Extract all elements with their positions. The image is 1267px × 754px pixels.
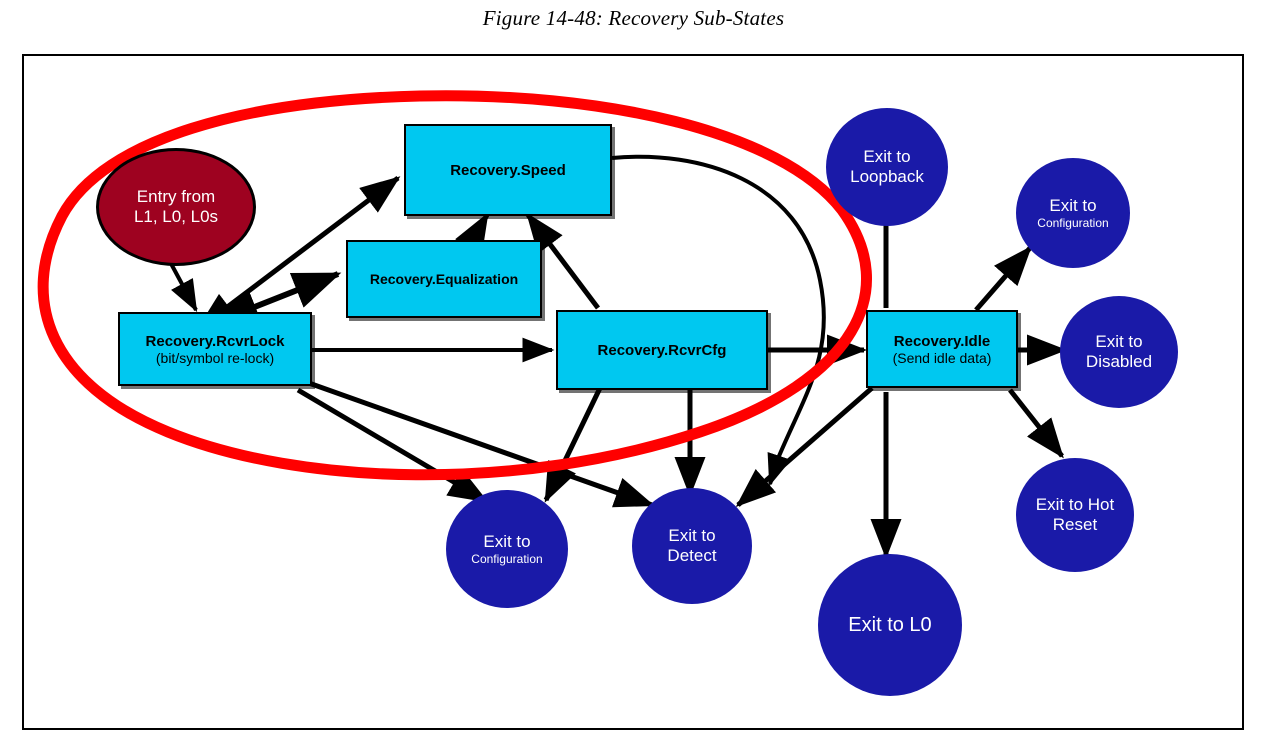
- node-exit-l0[interactable]: Exit to L0: [818, 554, 962, 696]
- node-exit-hot-reset[interactable]: Exit to Hot Reset: [1016, 458, 1134, 572]
- edge-rcvrlock-to-exit-configuration: [298, 390, 486, 501]
- node-exit-hot-reset-line1: Exit to Hot: [1036, 495, 1114, 515]
- node-exit-detect-line2: Detect: [667, 546, 716, 566]
- node-recovery-speed[interactable]: Recovery.Speed: [404, 124, 612, 216]
- node-exit-loopback-line2: Loopback: [850, 167, 924, 187]
- edge-idle-to-exit-configuration-right: [976, 248, 1030, 310]
- edge-equalization-to-speed: [472, 215, 487, 241]
- node-exit-config-bottom-line1: Exit to: [483, 532, 530, 552]
- node-entry-line1: Entry from: [137, 187, 215, 207]
- node-speed-line1: Recovery.Speed: [450, 162, 566, 179]
- node-exit-configuration-right[interactable]: Exit to Configuration: [1016, 158, 1130, 268]
- node-exit-disabled[interactable]: Exit to Disabled: [1060, 296, 1178, 408]
- node-exit-detect-line1: Exit to: [668, 526, 715, 546]
- node-recovery-idle[interactable]: Recovery.Idle (Send idle data): [866, 310, 1018, 388]
- node-recovery-equalization[interactable]: Recovery.Equalization: [346, 240, 542, 318]
- node-equalization-line1: Recovery.Equalization: [370, 271, 518, 287]
- node-exit-l0-line1: Exit to L0: [848, 614, 931, 637]
- node-entry-line2: L1, L0, L0s: [134, 207, 218, 227]
- node-exit-configuration-bottom[interactable]: Exit to Configuration: [446, 490, 568, 608]
- node-exit-detect[interactable]: Exit to Detect: [632, 488, 752, 604]
- node-exit-loopback-line1: Exit to: [863, 147, 910, 167]
- node-exit-loopback[interactable]: Exit to Loopback: [826, 108, 948, 226]
- node-idle-line2: (Send idle data): [893, 350, 992, 366]
- node-rcvrcfg-line1: Recovery.RcvrCfg: [598, 342, 727, 359]
- edge-rcvrlock-to-exit-detect: [306, 382, 652, 505]
- node-recovery-rcvrcfg[interactable]: Recovery.RcvrCfg: [556, 310, 768, 390]
- node-exit-config-right-line1: Exit to: [1049, 196, 1096, 216]
- node-exit-disabled-line2: Disabled: [1086, 352, 1152, 372]
- node-exit-disabled-line1: Exit to: [1095, 332, 1142, 352]
- node-recovery-rcvrlock[interactable]: Recovery.RcvrLock (bit/symbol re-lock): [118, 312, 312, 386]
- node-exit-hot-reset-line2: Reset: [1053, 515, 1097, 535]
- node-rcvrlock-line1: Recovery.RcvrLock: [146, 333, 285, 350]
- edge-idle-to-exit-hot-reset: [1010, 390, 1062, 456]
- node-entry[interactable]: Entry from L1, L0, L0s: [96, 148, 256, 266]
- node-rcvrlock-line2: (bit/symbol re-lock): [156, 350, 274, 366]
- node-exit-config-right-line2: Configuration: [1037, 216, 1108, 230]
- node-idle-line1: Recovery.Idle: [894, 333, 990, 350]
- node-exit-config-bottom-line2: Configuration: [471, 552, 542, 566]
